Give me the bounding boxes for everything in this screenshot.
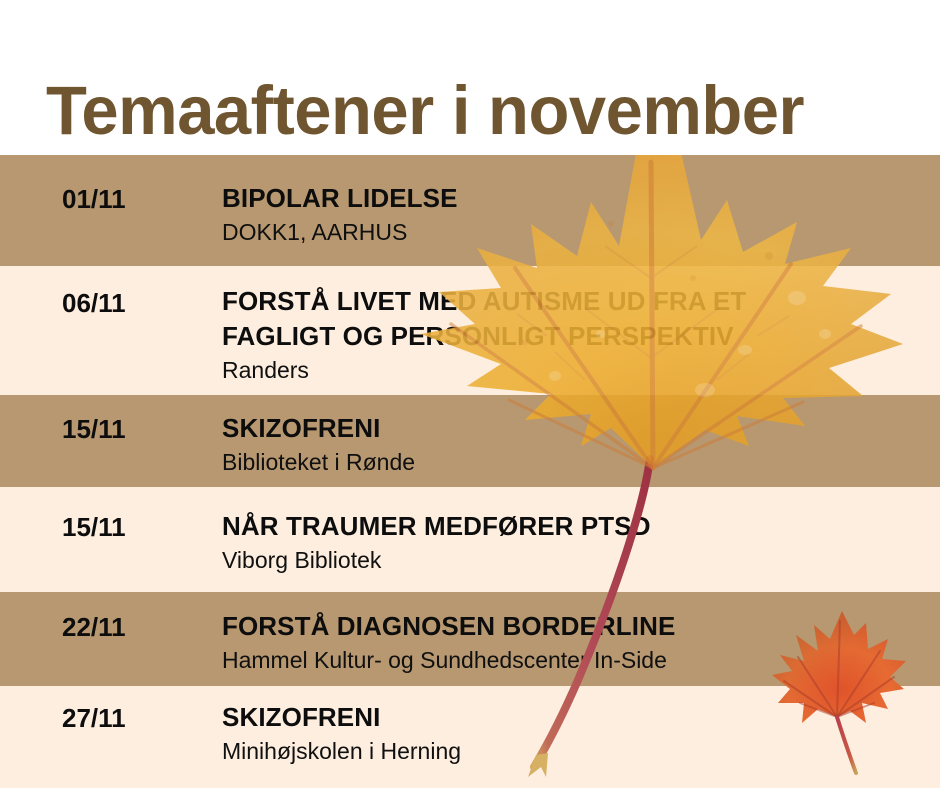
event-row-2[interactable]: 06/11 FORSTÅ LIVET MED AUTISME UD FRA ET…: [0, 266, 940, 395]
event-venue: DOKK1, AARHUS: [222, 217, 930, 247]
event-details: BIPOLAR LIDELSE DOKK1, AARHUS: [222, 181, 930, 247]
event-details: FORSTÅ DIAGNOSEN BORDERLINE Hammel Kultu…: [222, 609, 930, 675]
event-date: 06/11: [62, 288, 126, 319]
event-venue: Viborg Bibliotek: [222, 545, 930, 575]
event-details: NÅR TRAUMER MEDFØRER PTSD Viborg Bibliot…: [222, 509, 930, 575]
event-date: 27/11: [62, 703, 126, 734]
event-date: 22/11: [62, 612, 126, 643]
event-date: 15/11: [62, 512, 126, 543]
event-details: SKIZOFRENI Biblioteket i Rønde: [222, 411, 930, 477]
event-title: NÅR TRAUMER MEDFØRER PTSD: [222, 509, 930, 544]
page-title: Temaaftener i november: [46, 70, 804, 152]
event-row-4[interactable]: 15/11 NÅR TRAUMER MEDFØRER PTSD Viborg B…: [0, 487, 940, 592]
event-date: 01/11: [62, 184, 126, 215]
event-title: FORSTÅ DIAGNOSEN BORDERLINE: [222, 609, 930, 644]
event-row-3[interactable]: 15/11 SKIZOFRENI Biblioteket i Rønde: [0, 395, 940, 487]
event-row-5[interactable]: 22/11 FORSTÅ DIAGNOSEN BORDERLINE Hammel…: [0, 592, 940, 686]
event-title: SKIZOFRENI: [222, 700, 930, 735]
event-title: SKIZOFRENI: [222, 411, 930, 446]
poster-header: Temaaftener i november: [0, 0, 940, 155]
event-title: FORSTÅ LIVET MED AUTISME UD FRA ET FAGLI…: [222, 284, 930, 354]
event-title: BIPOLAR LIDELSE: [222, 181, 930, 216]
event-row-1[interactable]: 01/11 BIPOLAR LIDELSE DOKK1, AARHUS: [0, 155, 940, 266]
event-details: SKIZOFRENI Minihøjskolen i Herning: [222, 700, 930, 766]
event-row-6[interactable]: 27/11 SKIZOFRENI Minihøjskolen i Herning: [0, 686, 940, 788]
event-date: 15/11: [62, 414, 126, 445]
event-venue: Biblioteket i Rønde: [222, 447, 930, 477]
event-details: FORSTÅ LIVET MED AUTISME UD FRA ET FAGLI…: [222, 284, 930, 385]
poster-canvas: 01/11 BIPOLAR LIDELSE DOKK1, AARHUS 06/1…: [0, 0, 940, 788]
event-venue: Minihøjskolen i Herning: [222, 736, 930, 766]
event-venue: Hammel Kultur- og Sundhedscenter In-Side: [222, 645, 930, 675]
event-venue: Randers: [222, 355, 930, 385]
